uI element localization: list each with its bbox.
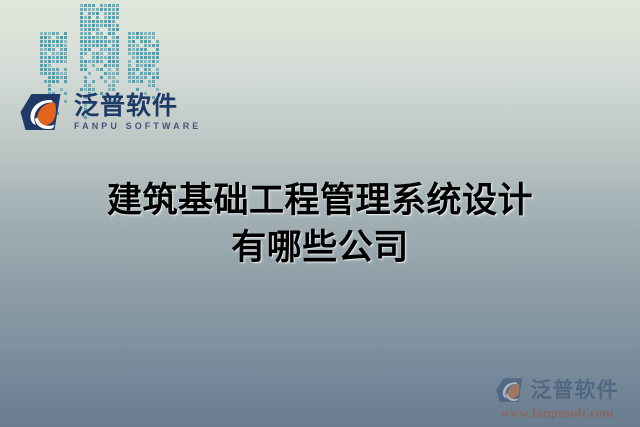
cityscape-pixel [80, 64, 83, 67]
cityscape-pixel [40, 52, 43, 55]
cityscape-pixel [60, 48, 63, 51]
cityscape-pixel [116, 52, 119, 55]
cityscape-pixel [48, 44, 51, 47]
cityscape-pixel [92, 36, 95, 39]
cityscape-pixel [116, 44, 119, 47]
cityscape-pixel [112, 36, 115, 39]
cityscape-pixel [144, 72, 147, 75]
cityscape-pixel [80, 44, 83, 47]
cityscape-pixel [136, 60, 139, 63]
cityscape-pixel [44, 48, 47, 51]
cityscape-pixel [52, 32, 55, 35]
cityscape-pixel [156, 56, 159, 59]
cityscape-pixel [48, 72, 51, 75]
cityscape-pixel [140, 76, 143, 79]
cityscape-pixel [132, 72, 135, 75]
cityscape-pixel [64, 48, 67, 51]
brand-logo: 泛普软件 FANPU SOFTWARE [20, 92, 201, 132]
cityscape-pixel [108, 20, 111, 23]
cityscape-pixel [116, 64, 119, 67]
cityscape-pixel [112, 4, 115, 7]
cityscape-pixel [148, 72, 151, 75]
cityscape-pixel [116, 16, 119, 19]
cityscape-pixel [60, 72, 63, 75]
cityscape-pixel [108, 48, 111, 51]
cityscape-pixel [148, 68, 151, 71]
cityscape-pixel [132, 48, 135, 51]
cityscape-pixel [140, 52, 143, 55]
cityscape-pixel [152, 64, 155, 67]
cityscape-pixel [96, 36, 99, 39]
cityscape-pixel [96, 28, 99, 31]
cityscape-pixel [96, 40, 99, 43]
cityscape-pixel [88, 16, 91, 19]
cityscape-pixel [88, 12, 91, 15]
cityscape-pixel [60, 36, 63, 39]
cityscape-pixel [104, 16, 107, 19]
cityscape-pixel [112, 28, 115, 31]
cityscape-pixel [100, 32, 103, 35]
cityscape-pixel [96, 60, 99, 63]
cityscape-pixel [108, 24, 111, 27]
cityscape-pixel [148, 44, 151, 47]
cityscape-pixel [44, 56, 47, 59]
cityscape-pixel [88, 48, 91, 51]
cityscape-pixel [48, 32, 51, 35]
cityscape-pixel [48, 80, 51, 83]
cityscape-pixel [152, 36, 155, 39]
cityscape-pixel [80, 52, 83, 55]
cityscape-pixel [64, 52, 67, 55]
cityscape-pixel [44, 36, 47, 39]
cityscape-pixel [40, 68, 43, 71]
cityscape-pixel [132, 68, 135, 71]
cityscape-pixel [148, 80, 151, 83]
cityscape-pixel [84, 44, 87, 47]
cityscape-pixel [92, 28, 95, 31]
cityscape-pixel [152, 60, 155, 63]
cityscape-pixel [48, 48, 51, 51]
cityscape-pixel [136, 48, 139, 51]
watermark-logo-row: 泛普软件 [482, 377, 632, 403]
cityscape-pixel [144, 68, 147, 71]
fanpu-logo-mark-icon [20, 92, 66, 132]
cityscape-pixel [144, 48, 147, 51]
cityscape-pixel [80, 24, 83, 27]
cityscape-pixel [116, 56, 119, 59]
cityscape-pixel [128, 68, 131, 71]
cityscape-pixel [88, 24, 91, 27]
cityscape-pixel [80, 16, 83, 19]
cityscape-pixel [108, 28, 111, 31]
cityscape-pixel [88, 40, 91, 43]
cityscape-pixel [116, 60, 119, 63]
cityscape-pixel [144, 64, 147, 67]
cityscape-pixel [52, 60, 55, 63]
cityscape-pixel [128, 32, 131, 35]
cityscape-pixel [56, 56, 59, 59]
cityscape-pixel [112, 60, 115, 63]
cityscape-pixel [88, 8, 91, 11]
watermark: 泛普软件 www.fanpusoft.com [482, 377, 632, 421]
cityscape-pixel [112, 20, 115, 23]
cityscape-pixel [116, 28, 119, 31]
cityscape-pixel [152, 56, 155, 59]
cityscape-pixel [80, 20, 83, 23]
cityscape-pixel [108, 8, 111, 11]
cityscape-pixel [88, 84, 91, 87]
cityscape-pixel [152, 84, 155, 87]
cityscape-pixel [112, 40, 115, 43]
cityscape-pixel [48, 36, 51, 39]
cityscape-pixel [44, 68, 47, 71]
cityscape-pixel [92, 80, 95, 83]
cityscape-pixel [84, 80, 87, 83]
cityscape-pixel [84, 24, 87, 27]
cityscape-pixel [84, 36, 87, 39]
cityscape-pixel [80, 60, 83, 63]
page-title-line-2: 有哪些公司 [0, 225, 640, 272]
cityscape-pixel [84, 32, 87, 35]
cityscape-pixel [56, 52, 59, 55]
cityscape-pixel [40, 64, 43, 67]
cityscape-pixel [64, 60, 67, 63]
cityscape-pixel [128, 80, 131, 83]
cityscape-pixel [140, 48, 143, 51]
cityscape-pixel [56, 44, 59, 47]
cityscape-pixel [104, 36, 107, 39]
cityscape-pixel [60, 88, 63, 91]
cityscape-pixel [84, 40, 87, 43]
cityscape-pixel [88, 20, 91, 23]
cityscape-pixel [116, 24, 119, 27]
cityscape-pixel [56, 80, 59, 83]
cityscape-pixel [136, 44, 139, 47]
cityscape-pixel [88, 60, 91, 63]
cityscape-pixel [148, 64, 151, 67]
cityscape-pixel [96, 20, 99, 23]
cityscape-pixel [128, 44, 131, 47]
pixel-art-cityscape-graphic [40, 0, 150, 90]
brand-logo-en-text: FANPU SOFTWARE [74, 122, 201, 131]
cityscape-pixel [48, 76, 51, 79]
cityscape-pixel [60, 56, 63, 59]
cityscape-pixel [144, 44, 147, 47]
cityscape-pixel [132, 80, 135, 83]
cityscape-pixel [52, 76, 55, 79]
cityscape-pixel [136, 36, 139, 39]
cityscape-pixel [104, 80, 107, 83]
cityscape-pixel [40, 60, 43, 63]
cityscape-pixel [44, 60, 47, 63]
cityscape-pixel [44, 32, 47, 35]
cityscape-pixel [64, 56, 67, 59]
cityscape-pixel [112, 84, 115, 87]
cityscape-pixel [44, 52, 47, 55]
cityscape-pixel [112, 16, 115, 19]
cityscape-pixel [80, 28, 83, 31]
watermark-cn-text: 泛普软件 [531, 380, 619, 401]
cityscape-pixel [116, 72, 119, 75]
cityscape-pixel [60, 76, 63, 79]
cityscape-pixel [92, 52, 95, 55]
cityscape-pixel [84, 52, 87, 55]
cityscape-pixel [88, 72, 91, 75]
cityscape-pixel [48, 56, 51, 59]
cityscape-pixel [104, 44, 107, 47]
watermark-fanpu-logo-mark-icon [496, 377, 526, 403]
cityscape-pixel [128, 36, 131, 39]
cityscape-pixel [132, 44, 135, 47]
cityscape-pixel [108, 16, 111, 19]
cityscape-pixel [100, 48, 103, 51]
cityscape-pixel [136, 52, 139, 55]
cityscape-pixel [84, 8, 87, 11]
cityscape-pixel [80, 68, 83, 71]
cityscape-pixel [136, 80, 139, 83]
cityscape-pixel [108, 84, 111, 87]
cityscape-pixel [96, 32, 99, 35]
cityscape-pixel [96, 12, 99, 15]
cityscape-pixel [152, 72, 155, 75]
cityscape-pixel [128, 64, 131, 67]
cityscape-pixel [100, 40, 103, 43]
cityscape-pixel [144, 36, 147, 39]
cityscape-pixel [108, 4, 111, 7]
cityscape-pixel [112, 52, 115, 55]
cityscape-pixel [148, 52, 151, 55]
cityscape-pixel [48, 88, 51, 91]
cityscape-pixel [148, 32, 151, 35]
cityscape-pixel [84, 16, 87, 19]
cityscape-pixel [88, 32, 91, 35]
cityscape-pixel [116, 36, 119, 39]
cityscape-pixel [100, 52, 103, 55]
cityscape-pixel [140, 56, 143, 59]
cityscape-pixel [80, 40, 83, 43]
cityscape-pixel [64, 32, 67, 35]
cityscape-pixel [132, 76, 135, 79]
cityscape-pixel [80, 4, 83, 7]
cityscape-pixel [140, 40, 143, 43]
cityscape-pixel [100, 68, 103, 71]
cityscape-pixel [52, 56, 55, 59]
cityscape-pixel [104, 56, 107, 59]
cityscape-pixel [100, 36, 103, 39]
cityscape-pixel [144, 32, 147, 35]
cityscape-pixel [88, 4, 91, 7]
cityscape-pixel [40, 32, 43, 35]
cityscape-pixel [48, 40, 51, 43]
cityscape-pixel [116, 48, 119, 51]
cityscape-pixel [128, 76, 131, 79]
cityscape-pixel [112, 12, 115, 15]
cityscape-pixel [88, 28, 91, 31]
cityscape-pixel [108, 68, 111, 71]
cityscape-pixel [80, 48, 83, 51]
cityscape-pixel [108, 52, 111, 55]
cityscape-pixel [40, 36, 43, 39]
cityscape-pixel [40, 40, 43, 43]
cityscape-pixel [112, 32, 115, 35]
cityscape-pixel [140, 80, 143, 83]
cityscape-pixel [156, 44, 159, 47]
cityscape-pixel [104, 12, 107, 15]
cityscape-pixel [148, 84, 151, 87]
cityscape-pixel [52, 68, 55, 71]
cityscape-pixel [92, 4, 95, 7]
cityscape-pixel [144, 60, 147, 63]
cityscape-pixel [56, 36, 59, 39]
cityscape-pixel [44, 72, 47, 75]
cityscape-pixel [100, 56, 103, 59]
cityscape-pixel [144, 52, 147, 55]
cityscape-pixel [48, 84, 51, 87]
cityscape-pixel [64, 72, 67, 75]
cityscape-pixel [92, 40, 95, 43]
cityscape-pixel [136, 76, 139, 79]
cityscape-pixel [40, 56, 43, 59]
cityscape-pixel [60, 60, 63, 63]
cityscape-pixel [48, 64, 51, 67]
cityscape-pixel [84, 48, 87, 51]
cityscape-pixel [132, 32, 135, 35]
cityscape-pixel [100, 24, 103, 27]
cityscape-pixel [140, 72, 143, 75]
cityscape-pixel [96, 44, 99, 47]
cityscape-pixel [52, 72, 55, 75]
cityscape-pixel [84, 20, 87, 23]
cityscape-pixel [156, 52, 159, 55]
cityscape-pixel [136, 68, 139, 71]
cityscape-pixel [100, 8, 103, 11]
cityscape-pixel [40, 48, 43, 51]
cityscape-pixel [152, 52, 155, 55]
cityscape-pixel [108, 64, 111, 67]
cityscape-pixel [44, 44, 47, 47]
cityscape-pixel [128, 72, 131, 75]
cityscape-pixel [112, 80, 115, 83]
cityscape-pixel [156, 40, 159, 43]
cityscape-pixel [140, 64, 143, 67]
cityscape-pixel [152, 44, 155, 47]
cityscape-pixel [112, 24, 115, 27]
cityscape-pixel [152, 32, 155, 35]
cityscape-pixel [56, 32, 59, 35]
cityscape-pixel [140, 60, 143, 63]
cityscape-pixel [104, 40, 107, 43]
cityscape-pixel [44, 80, 47, 83]
cityscape-pixel [116, 80, 119, 83]
cityscape-pixel [112, 72, 115, 75]
cityscape-pixel [112, 44, 115, 47]
cityscape-pixel [64, 80, 67, 83]
cityscape-pixel [108, 60, 111, 63]
cityscape-pixel [80, 32, 83, 35]
brand-logo-cn-text: 泛普软件 [74, 93, 201, 118]
cityscape-pixel [136, 64, 139, 67]
cityscape-pixel [108, 72, 111, 75]
cityscape-pixel [112, 76, 115, 79]
cityscape-pixel [96, 56, 99, 59]
cityscape-pixel [56, 68, 59, 71]
cityscape-pixel [156, 76, 159, 79]
cityscape-pixel [152, 76, 155, 79]
cityscape-pixel [128, 60, 131, 63]
cityscape-pixel [112, 56, 115, 59]
cityscape-pixel [56, 72, 59, 75]
cityscape-pixel [136, 56, 139, 59]
cityscape-pixel [148, 60, 151, 63]
cityscape-pixel [84, 28, 87, 31]
cityscape-pixel [64, 68, 67, 71]
cityscape-pixel [88, 36, 91, 39]
cityscape-pixel [52, 40, 55, 43]
cityscape-pixel [52, 48, 55, 51]
cityscape-pixel [104, 48, 107, 51]
cityscape-pixel [84, 76, 87, 79]
cityscape-pixel [92, 64, 95, 67]
cityscape-pixel [132, 40, 135, 43]
cityscape-pixel [144, 40, 147, 43]
cityscape-pixel [156, 68, 159, 71]
cityscape-pixel [140, 32, 143, 35]
cityscape-pixel [44, 64, 47, 67]
cityscape-pixel [64, 40, 67, 43]
cityscape-pixel [156, 72, 159, 75]
cityscape-pixel [80, 12, 83, 15]
cityscape-pixel [132, 56, 135, 59]
cityscape-pixel [92, 44, 95, 47]
cityscape-pixel [92, 8, 95, 11]
promo-banner: 泛普软件 FANPU SOFTWARE 建筑基础工程管理系统设计 有哪些公司 泛… [0, 0, 640, 427]
cityscape-pixel [96, 52, 99, 55]
cityscape-pixel [64, 36, 67, 39]
brand-logo-wordmark: 泛普软件 FANPU SOFTWARE [74, 93, 201, 131]
cityscape-pixel [84, 64, 87, 67]
cityscape-pixel [108, 40, 111, 43]
cityscape-pixel [148, 40, 151, 43]
cityscape-pixel [104, 8, 107, 11]
cityscape-pixel [52, 44, 55, 47]
cityscape-pixel [52, 80, 55, 83]
cityscape-pixel [96, 16, 99, 19]
cityscape-pixel [56, 60, 59, 63]
cityscape-pixel [156, 60, 159, 63]
cityscape-pixel [92, 60, 95, 63]
cityscape-pixel [56, 76, 59, 79]
cityscape-pixel [152, 80, 155, 83]
cityscape-pixel [104, 20, 107, 23]
cityscape-pixel [84, 4, 87, 7]
cityscape-pixel [44, 40, 47, 43]
cityscape-pixel [112, 8, 115, 11]
cityscape-pixel [88, 44, 91, 47]
cityscape-pixel [128, 40, 131, 43]
cityscape-pixel [112, 64, 115, 67]
cityscape-pixel [84, 60, 87, 63]
cityscape-pixel [108, 56, 111, 59]
cityscape-pixel [104, 72, 107, 75]
cityscape-pixel [96, 68, 99, 71]
cityscape-pixel [132, 52, 135, 55]
cityscape-pixel [140, 36, 143, 39]
cityscape-pixel [96, 8, 99, 11]
cityscape-pixel [100, 76, 103, 79]
cityscape-pixel [64, 44, 67, 47]
cityscape-pixel [48, 68, 51, 71]
page-title: 建筑基础工程管理系统设计 有哪些公司 [0, 178, 640, 272]
